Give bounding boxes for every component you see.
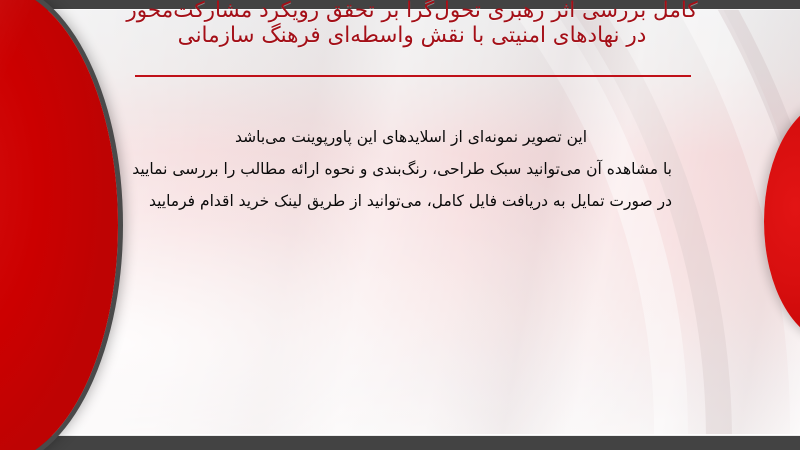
slide-title: کامل بررسی اثر رهبری تحول‌گرا بر تحقق رو… — [120, 0, 704, 48]
frame-bottom-band — [0, 435, 800, 450]
slide-body: این تصویر نمونه‌ای از اسلایدهای این پاور… — [150, 121, 672, 217]
slide-background-plate — [0, 9, 800, 436]
background-arc-pattern — [0, 9, 800, 436]
arc-band — [0, 9, 800, 436]
body-line: در صورت تمایل به دریافت فایل کامل، می‌تو… — [150, 185, 672, 217]
frame-bottom-hairline — [36, 434, 800, 436]
title-underline-rule — [135, 75, 691, 77]
body-line: با مشاهده آن می‌توانید سبک طراحی، رنگ‌بن… — [150, 153, 672, 185]
body-line: این تصویر نمونه‌ای از اسلایدهای این پاور… — [150, 121, 672, 153]
presentation-slide: کامل بررسی اثر رهبری تحول‌گرا بر تحقق رو… — [0, 0, 800, 450]
